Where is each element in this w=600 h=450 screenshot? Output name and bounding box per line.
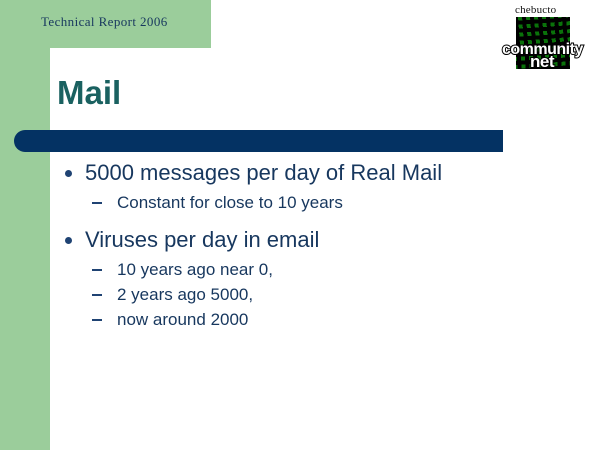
dash-bullet-icon [92,294,102,296]
left-green-sidebar [0,0,50,450]
bullet-group: 5000 messages per day of Real Mail Const… [57,158,557,215]
list-item-label: Constant for close to 10 years [117,193,343,212]
list-item: now around 2000 [57,307,557,332]
title-underline-bar [14,130,503,152]
list-item-label: 10 years ago near 0, [117,260,273,279]
dash-bullet-icon [92,269,102,271]
list-item: 5000 messages per day of Real Mail [57,158,557,188]
dash-bullet-icon [92,202,102,204]
list-item-label: Viruses per day in email [85,227,319,252]
list-item-label: 2 years ago 5000, [117,285,253,304]
list-item: 10 years ago near 0, [57,257,557,282]
dash-bullet-icon [92,319,102,321]
list-item-label: 5000 messages per day of Real Mail [85,160,442,185]
round-bullet-icon [65,170,72,177]
round-bullet-icon [65,237,72,244]
chebucto-community-net-logo: chebucto community net [502,4,594,70]
list-item-label: now around 2000 [117,310,248,329]
bullet-list: 5000 messages per day of Real Mail Const… [57,158,557,336]
presentation-slide: Technical Report 2006 Mail 5000 messages… [0,0,600,450]
logo-word-net: net [530,52,554,72]
list-item: Viruses per day in email [57,225,557,255]
logo-top-word: chebucto [515,4,556,16]
header-label: Technical Report 2006 [41,14,168,30]
list-item: 2 years ago 5000, [57,282,557,307]
list-item: Constant for close to 10 years [57,190,557,215]
bullet-group: Viruses per day in email 10 years ago ne… [57,225,557,332]
page-title: Mail [57,76,121,109]
